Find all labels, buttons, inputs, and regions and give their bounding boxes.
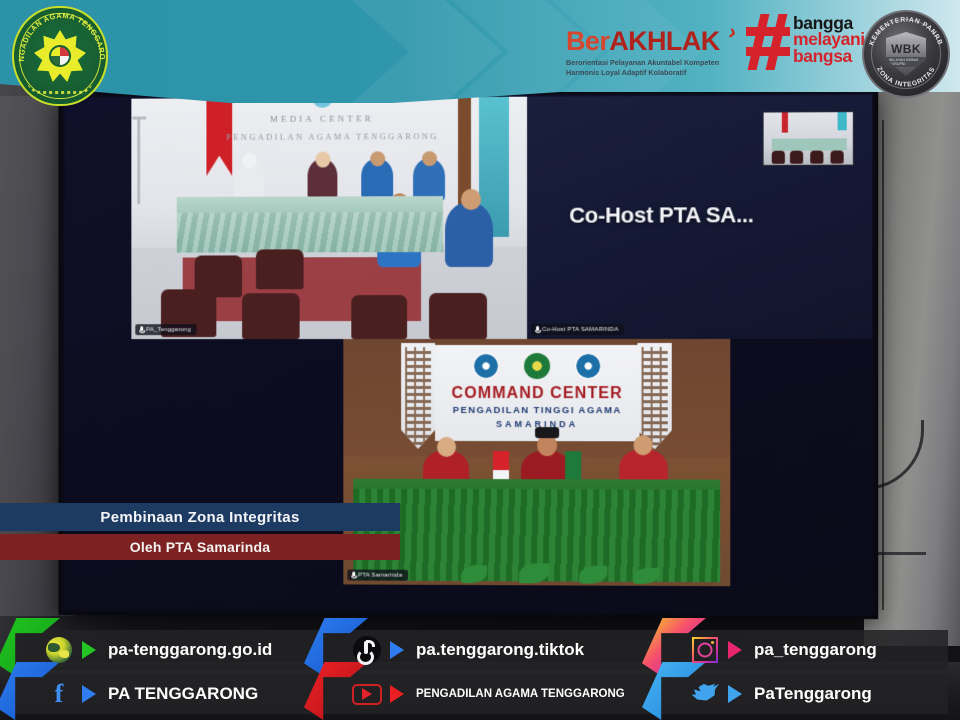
pa-participant-label: PA_Tenggarong — [135, 324, 196, 335]
pa-room: MEDIA CENTER PENGADILAN AGAMA TENGGARONG — [131, 97, 527, 339]
social-item-youtube[interactable]: PENGADILAN AGAMA TENGGARONG — [330, 674, 625, 714]
berakhlak-tagline-line2: Harmonis Loyal Adaptif Kolaboratif — [566, 68, 746, 78]
tiktok-arrow-icon — [390, 641, 404, 659]
pa-chair-5 — [351, 295, 407, 339]
twitter-arrow-icon — [728, 685, 742, 703]
pa-mic-stand — [137, 119, 140, 204]
berakhlak-tagline: Berorientasi Pelayanan Akuntabel Kompete… — [566, 58, 746, 77]
cc-logo-left — [473, 353, 499, 379]
video-tile-command-center[interactable]: COMMAND CENTER PENGADILAN TINGGI AGAMA S… — [343, 339, 730, 586]
social-media-bar: pa-tenggarong.go.id pa.tenggarong.tiktok… — [0, 616, 960, 720]
facebook-arrow-icon — [82, 685, 96, 703]
video-tile-cohost[interactable]: Co-Host PTA SA... Co-Host PTA SAMARINDA — [527, 95, 872, 339]
room-wall-right — [864, 86, 960, 646]
pip-chair-3 — [810, 151, 823, 164]
screenshot-root: MEDIA CENTER PENGADILAN AGAMA TENGGARONG — [0, 0, 960, 720]
pa-person-6 — [445, 203, 493, 267]
seal-center-emblem — [49, 45, 71, 67]
pip-chair-4 — [831, 150, 844, 163]
cc-batik-panel-left — [401, 343, 435, 449]
social-item-instagram[interactable]: pa_tenggarong — [668, 630, 877, 670]
pa-head-3 — [370, 151, 385, 166]
pa-chair-4 — [242, 293, 300, 339]
mic-icon — [535, 326, 539, 333]
cc-logo-right — [575, 353, 601, 379]
instagram-arrow-icon — [728, 641, 742, 659]
youtube-icon — [352, 679, 382, 709]
bangga-line3: bangsa — [793, 48, 865, 64]
cohost-display-text: Co-Host PTA SA... — [569, 202, 753, 229]
bangga-words: bangga melayani bangsa — [793, 14, 865, 64]
lower-third-title: Pembinaan Zona Integritas — [100, 509, 299, 526]
pengadilan-agama-tenggarong-logo: PENGADILAN AGAMA TENGGARONG — [12, 6, 108, 106]
pa-head-4 — [422, 151, 437, 166]
twitter-icon — [690, 679, 720, 709]
wbk-bottom-text: ZONA INTEGRITAS — [875, 66, 937, 89]
website-handle: pa-tenggarong.go.id — [108, 640, 272, 660]
cohost-participant-label: Co-Host PTA SAMARINDA — [531, 324, 624, 335]
youtube-handle: PENGADILAN AGAMA TENGGARONG — [416, 688, 625, 700]
cc-head-left — [437, 437, 456, 457]
pip-chair-1 — [772, 151, 785, 164]
pa-head-6 — [461, 189, 481, 210]
berakhlak-tagline-line1: Berorientasi Pelayanan Akuntabel Kompete… — [566, 58, 746, 68]
pa-chair-6 — [429, 293, 487, 339]
pa-participant-name: PA_Tenggarong — [146, 327, 191, 333]
cc-participant-name: PTA Samarinda — [358, 572, 402, 578]
social-item-twitter[interactable]: PaTenggarong — [668, 674, 872, 714]
cc-logo-center — [524, 353, 550, 379]
pip-table — [772, 138, 847, 150]
cc-head-right — [633, 435, 652, 455]
cc-participant-label: PTA Samarinda — [347, 569, 408, 580]
pip-teal-banner — [838, 112, 847, 130]
picture-in-picture-thumbnail[interactable] — [763, 111, 854, 166]
wbk-zona-integritas-seal: WBK WILAYAH BEBAS KORUPSI KEMENTERIAN PA… — [862, 10, 950, 98]
pip-red-banner — [782, 112, 788, 132]
mic-icon — [139, 326, 143, 333]
website-arrow-icon — [82, 641, 96, 659]
mic-icon — [351, 572, 355, 579]
twitter-handle: PaTenggarong — [754, 684, 872, 704]
tiktok-handle: pa.tenggarong.tiktok — [416, 640, 584, 660]
pa-conference-table — [177, 196, 443, 253]
pa-head-1 — [242, 153, 257, 168]
social-item-tiktok[interactable]: pa.tenggarong.tiktok — [330, 630, 584, 670]
lower-third-subtitle: Oleh PTA Samarinda — [130, 539, 271, 555]
seal-bottom-band — [27, 80, 93, 94]
berakhlak-suffix: AKHLAK — [609, 26, 719, 56]
lower-third-subtitle-bar: Oleh PTA Samarinda — [0, 534, 400, 560]
bangga-melayani-bangsa-lockup: bangga melayani bangsa — [746, 14, 865, 70]
hashtag-icon — [746, 14, 790, 70]
wbk-top-text: KEMENTERIAN PANRB — [868, 16, 943, 46]
social-item-website[interactable]: pa-tenggarong.go.id — [22, 630, 272, 670]
pip-chair-2 — [790, 151, 803, 164]
cc-peci-hat — [535, 427, 559, 438]
youtube-arrow-icon — [390, 685, 404, 703]
cc-batik-pattern — [642, 347, 668, 445]
cc-batik-pattern — [405, 347, 431, 445]
berakhlak-wordmark: BerAKHLAK — [566, 28, 746, 55]
cc-title: COMMAND CENTER — [435, 385, 640, 403]
instagram-icon — [690, 635, 720, 665]
cohost-participant-name: Co-Host PTA SAMARINDA — [542, 326, 618, 332]
cc-subtitle-line1: PENGADILAN TINGGI AGAMA — [435, 405, 640, 416]
cc-room: COMMAND CENTER PENGADILAN TINGGI AGAMA S… — [343, 339, 730, 586]
pa-sign-line2: PENGADILAN AGAMA TENGGARONG — [226, 131, 439, 142]
pa-chair-2 — [256, 249, 304, 289]
instagram-handle: pa_tenggarong — [754, 640, 877, 660]
facebook-icon: f — [44, 679, 74, 709]
cc-batik-panel-right — [638, 343, 672, 449]
berakhlak-lockup: BerAKHLAK › Berorientasi Pelayanan Akunt… — [566, 28, 746, 77]
pa-head-2 — [316, 152, 331, 168]
social-item-facebook[interactable]: f PA TENGGARONG — [22, 674, 258, 714]
lower-third-title-bar: Pembinaan Zona Integritas — [0, 503, 400, 531]
globe-icon — [44, 635, 74, 665]
berakhlak-prefix: Ber — [566, 26, 609, 56]
video-tile-pa-tenggarong[interactable]: MEDIA CENTER PENGADILAN AGAMA TENGGARONG — [131, 97, 527, 339]
tiktok-icon — [352, 635, 382, 665]
pa-sign-line1: MEDIA CENTER — [270, 113, 374, 123]
wbk-ring-text-svg: KEMENTERIAN PANRB ZONA INTEGRITAS — [864, 12, 948, 96]
facebook-handle: PA TENGGARONG — [108, 684, 258, 704]
